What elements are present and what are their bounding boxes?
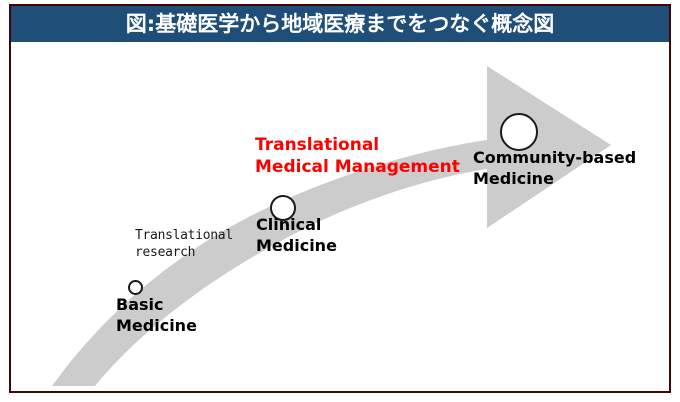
node-label-basic-medicine: Basic Medicine bbox=[116, 294, 197, 336]
figure-canvas: Basic Medicine Translational research Cl… bbox=[11, 42, 669, 391]
node-label-community-based-medicine-line1: Community-based bbox=[473, 147, 636, 168]
figure-title: 図:基礎医学から地域医療までをつなぐ概念図 bbox=[126, 14, 554, 35]
annotation-translational-medical-management-line1: Translational bbox=[255, 134, 460, 156]
annotation-translational-research-line2: research bbox=[135, 244, 233, 261]
node-marker-community-based-medicine bbox=[500, 113, 538, 151]
annotation-translational-medical-management: Translational Medical Management bbox=[255, 134, 460, 179]
node-label-community-based-medicine: Community-based Medicine bbox=[473, 147, 636, 189]
node-label-basic-medicine-line2: Medicine bbox=[116, 315, 197, 336]
node-label-basic-medicine-line1: Basic bbox=[116, 294, 197, 315]
node-marker-basic-medicine bbox=[128, 280, 143, 295]
concept-figure: 図:基礎医学から地域医療までをつなぐ概念図 Basic Medicine Tra… bbox=[0, 0, 680, 402]
node-label-clinical-medicine-line1: Clinical bbox=[256, 214, 337, 235]
node-label-clinical-medicine: Clinical Medicine bbox=[256, 214, 337, 256]
figure-title-bar: 図:基礎医学から地域医療までをつなぐ概念図 bbox=[11, 6, 669, 42]
node-label-community-based-medicine-line2: Medicine bbox=[473, 168, 636, 189]
annotation-translational-medical-management-line2: Medical Management bbox=[255, 156, 460, 178]
annotation-translational-research: Translational research bbox=[135, 227, 233, 261]
curved-growth-arrow bbox=[11, 42, 669, 391]
node-label-clinical-medicine-line2: Medicine bbox=[256, 235, 337, 256]
annotation-translational-research-line1: Translational bbox=[135, 227, 233, 244]
